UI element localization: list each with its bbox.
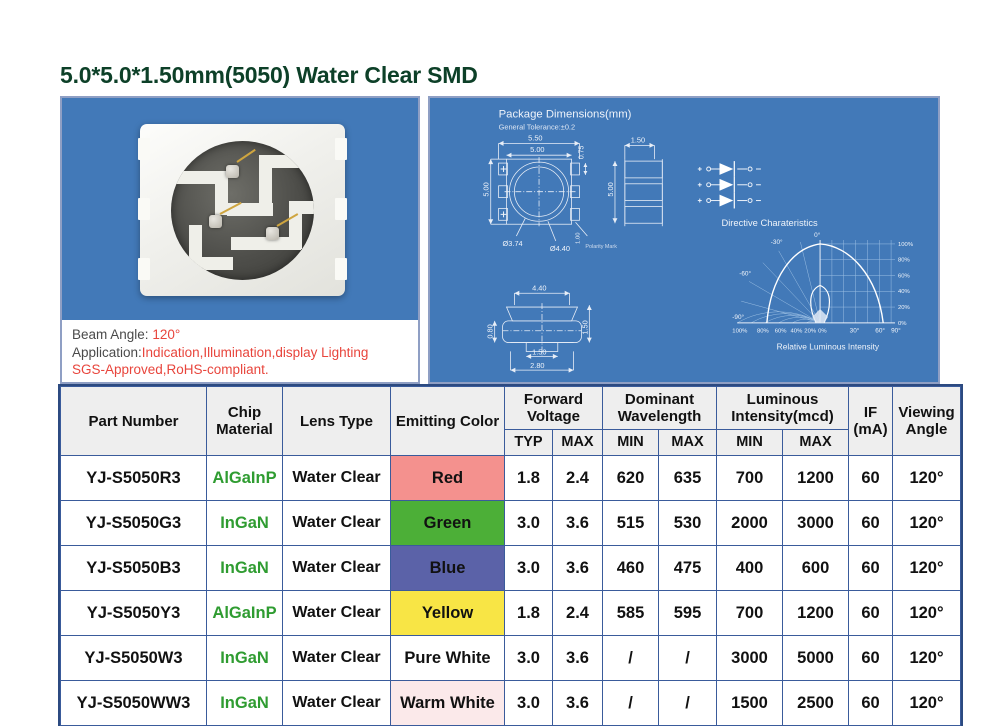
svg-text:60%: 60% <box>898 273 911 279</box>
svg-text:0%: 0% <box>898 321 907 327</box>
cell-li-min: 700 <box>717 456 783 501</box>
cell-emitting-color: Blue <box>391 546 505 591</box>
svg-text:-90°: -90° <box>732 313 744 321</box>
cell-vf-max: 2.4 <box>553 456 603 501</box>
cell-part-number: YJ-S5050G3 <box>61 501 207 546</box>
dim-body-thickness: 0.80 <box>486 324 495 338</box>
cell-if-typ: 60 <box>849 546 893 591</box>
svg-text:90°: 90° <box>891 327 901 335</box>
directivity-xlabel: Relative Luminous Intensity <box>777 341 880 351</box>
cell-wl-max: 475 <box>659 546 717 591</box>
led-notch <box>335 198 347 220</box>
led-die <box>209 215 222 228</box>
dim-side-pad-width: 1.50 <box>631 135 645 144</box>
cell-wl-min: 620 <box>603 456 659 501</box>
led-package-image <box>140 124 345 296</box>
cell-li-max: 3000 <box>783 501 849 546</box>
cell-li-min: 700 <box>717 591 783 636</box>
dim-pad-pitch: 0.75 <box>578 146 585 160</box>
col-if: IF (mA) <box>849 387 893 456</box>
svg-text:1.00: 1.00 <box>575 232 581 244</box>
col-wl-max: MAX <box>659 430 717 456</box>
col-vf-max: MAX <box>553 430 603 456</box>
led-die <box>266 227 279 240</box>
cell-li-max: 5000 <box>783 636 849 681</box>
cell-li-max: 2500 <box>783 681 849 726</box>
col-lens-type: Lens Type <box>283 387 391 456</box>
cell-vf-typ: 3.0 <box>505 501 553 546</box>
table-row: YJ-S5050W3InGaNWater ClearPure White3.03… <box>61 636 961 681</box>
cell-if-typ: 60 <box>849 591 893 636</box>
product-description: Beam Angle: 120° Application:Indication,… <box>72 326 417 379</box>
beam-angle-line: Beam Angle: 120° <box>72 326 417 344</box>
cell-li-min: 3000 <box>717 636 783 681</box>
cell-vf-typ: 1.8 <box>505 456 553 501</box>
cell-vf-max: 3.6 <box>553 501 603 546</box>
table-body: YJ-S5050R3AlGaInPWater ClearRed1.82.4620… <box>61 456 961 726</box>
cell-li-min: 2000 <box>717 501 783 546</box>
cell-chip-material: InGaN <box>207 636 283 681</box>
cell-wl-max: 530 <box>659 501 717 546</box>
svg-text:0%: 0% <box>818 329 827 335</box>
cell-lens-type: Water Clear <box>283 456 391 501</box>
led-notch <box>335 138 347 160</box>
col-wl-min: MIN <box>603 430 659 456</box>
cell-if-typ: 60 <box>849 501 893 546</box>
col-forward-voltage: Forward Voltage <box>505 387 603 430</box>
cell-viewing-angle: 120° <box>893 681 961 726</box>
col-part-number: Part Number <box>61 387 207 456</box>
led-reflector-cavity <box>171 141 314 280</box>
cell-vf-typ: 3.0 <box>505 636 553 681</box>
cell-lens-type: Water Clear <box>283 546 391 591</box>
cell-wl-min: 585 <box>603 591 659 636</box>
svg-text:80%: 80% <box>898 258 911 264</box>
table-row: YJ-S5050G3InGaNWater ClearGreen3.03.6515… <box>61 501 961 546</box>
svg-text:20%: 20% <box>898 305 911 311</box>
application-label: Application: <box>72 345 142 360</box>
cell-wl-max: 595 <box>659 591 717 636</box>
cell-chip-material: InGaN <box>207 546 283 591</box>
cell-li-min: 1500 <box>717 681 783 726</box>
cell-wl-min: 460 <box>603 546 659 591</box>
cell-chip-material: InGaN <box>207 501 283 546</box>
cell-chip-material: InGaN <box>207 681 283 726</box>
cell-wl-min: / <box>603 681 659 726</box>
cell-li-max: 600 <box>783 546 849 591</box>
dim-front-pad-width: 1.50 <box>532 347 546 356</box>
dim-inner-circle: Ø3.74 <box>503 239 523 248</box>
cell-lens-type: Water Clear <box>283 681 391 726</box>
page-title: 5.0*5.0*1.50mm(5050) Water Clear SMD <box>60 62 478 89</box>
dim-base-width: 2.80 <box>530 361 544 370</box>
specification-table: Part Number Chip Material Lens Type Emit… <box>60 386 961 726</box>
col-dominant-wavelength: Dominant Wavelength <box>603 387 717 430</box>
cell-emitting-color: Pure White <box>391 636 505 681</box>
datasheet-page: 5.0*5.0*1.50mm(5050) Water Clear SMD <box>0 0 1000 720</box>
led-notch <box>335 258 347 280</box>
beam-angle-value: 120° <box>152 327 180 342</box>
table-row: YJ-S5050R3AlGaInPWater ClearRed1.82.4620… <box>61 456 961 501</box>
cell-vf-max: 2.4 <box>553 591 603 636</box>
svg-text:80%: 80% <box>757 329 770 335</box>
svg-text:-60°: -60° <box>739 270 751 278</box>
dim-body-width: 5.00 <box>530 145 544 154</box>
dim-body-height: 5.00 <box>482 182 491 196</box>
col-li-min: MIN <box>717 430 783 456</box>
beam-angle-label: Beam Angle: <box>72 327 152 342</box>
svg-text:-30°: -30° <box>771 238 783 246</box>
svg-text:100%: 100% <box>732 329 748 335</box>
cell-vf-max: 3.6 <box>553 681 603 726</box>
col-emitting-color: Emitting Color <box>391 387 505 456</box>
led-die <box>226 165 239 178</box>
package-drawing-panel: Package Dimensions(mm) General Tolerance… <box>428 96 940 384</box>
cell-if-typ: 60 <box>849 456 893 501</box>
cell-part-number: YJ-S5050R3 <box>61 456 207 501</box>
cell-chip-material: AlGaInP <box>207 456 283 501</box>
table-header-row-1: Part Number Chip Material Lens Type Emit… <box>61 387 961 430</box>
cell-vf-typ: 3.0 <box>505 546 553 591</box>
circuit-diagram <box>698 161 761 208</box>
directivity-title: Directive Charateristics <box>721 218 818 228</box>
table-row: YJ-S5050B3InGaNWater ClearBlue3.03.64604… <box>61 546 961 591</box>
led-notch <box>138 138 150 160</box>
cell-viewing-angle: 120° <box>893 636 961 681</box>
col-chip-material: Chip Material <box>207 387 283 456</box>
cell-part-number: YJ-S5050B3 <box>61 546 207 591</box>
col-li-max: MAX <box>783 430 849 456</box>
cell-if-typ: 60 <box>849 681 893 726</box>
cell-viewing-angle: 120° <box>893 591 961 636</box>
cell-emitting-color: Green <box>391 501 505 546</box>
package-dimensions-drawing: Package Dimensions(mm) General Tolerance… <box>430 98 938 382</box>
cell-part-number: YJ-S5050W3 <box>61 636 207 681</box>
polarity-mark-label: Polarity Mark <box>585 244 617 250</box>
cell-vf-typ: 1.8 <box>505 591 553 636</box>
col-vf-typ: TYP <box>505 430 553 456</box>
cell-part-number: YJ-S5050Y3 <box>61 591 207 636</box>
cell-viewing-angle: 120° <box>893 501 961 546</box>
cell-emitting-color: Warm White <box>391 681 505 726</box>
bond-wire <box>236 149 255 163</box>
svg-text:60°: 60° <box>875 327 885 335</box>
table-row: YJ-S5050Y3AlGaInPWater ClearYellow1.82.4… <box>61 591 961 636</box>
cell-wl-max: / <box>659 636 717 681</box>
dim-outer-circle: Ø4.40 <box>550 244 570 253</box>
cell-if-typ: 60 <box>849 636 893 681</box>
svg-text:30°: 30° <box>850 327 860 335</box>
cell-lens-type: Water Clear <box>283 591 391 636</box>
application-value: Indication,Illumination,display Lighting <box>142 345 369 360</box>
col-viewing-angle: Viewing Angle <box>893 387 961 456</box>
dim-side-height: 5.00 <box>606 182 615 196</box>
led-notch <box>138 258 150 280</box>
cell-li-min: 400 <box>717 546 783 591</box>
cell-wl-min: / <box>603 636 659 681</box>
svg-text:40%: 40% <box>791 329 804 335</box>
table-row: YJ-S5050WW3InGaNWater ClearWarm White3.0… <box>61 681 961 726</box>
cell-viewing-angle: 120° <box>893 546 961 591</box>
cell-vf-typ: 3.0 <box>505 681 553 726</box>
cell-lens-type: Water Clear <box>283 501 391 546</box>
dim-overall-width: 5.50 <box>528 133 542 142</box>
drawing-tolerance: General Tolerance:±0.2 <box>499 123 575 132</box>
cell-lens-type: Water Clear <box>283 636 391 681</box>
svg-text:40%: 40% <box>898 289 911 295</box>
svg-text:60%: 60% <box>775 329 788 335</box>
application-line: Application:Indication,Illumination,disp… <box>72 344 417 362</box>
svg-text:0°: 0° <box>814 231 821 239</box>
cell-emitting-color: Red <box>391 456 505 501</box>
dim-lens-width: 4.40 <box>532 283 546 292</box>
product-photo-panel: Beam Angle: 120° Application:Indication,… <box>60 96 420 384</box>
cell-wl-max: / <box>659 681 717 726</box>
cell-emitting-color: Yellow <box>391 591 505 636</box>
dim-total-height: 1.50 <box>580 320 589 334</box>
cell-wl-min: 515 <box>603 501 659 546</box>
cell-li-max: 1200 <box>783 591 849 636</box>
cell-part-number: YJ-S5050WW3 <box>61 681 207 726</box>
drawing-heading: Package Dimensions(mm) <box>499 109 632 121</box>
compliance-line: SGS-Approved,RoHS-compliant. <box>72 361 417 379</box>
svg-text:20%: 20% <box>804 329 817 335</box>
col-luminous-intensity: Luminous Intensity(mcd) <box>717 387 849 430</box>
cell-chip-material: AlGaInP <box>207 591 283 636</box>
directivity-chart: Directive Charateristics <box>721 218 913 351</box>
cell-wl-max: 635 <box>659 456 717 501</box>
cell-li-max: 1200 <box>783 456 849 501</box>
cell-viewing-angle: 120° <box>893 456 961 501</box>
cell-vf-max: 3.6 <box>553 546 603 591</box>
svg-text:100%: 100% <box>898 242 914 248</box>
cell-vf-max: 3.6 <box>553 636 603 681</box>
led-notch <box>138 198 150 220</box>
product-photo <box>62 98 418 320</box>
